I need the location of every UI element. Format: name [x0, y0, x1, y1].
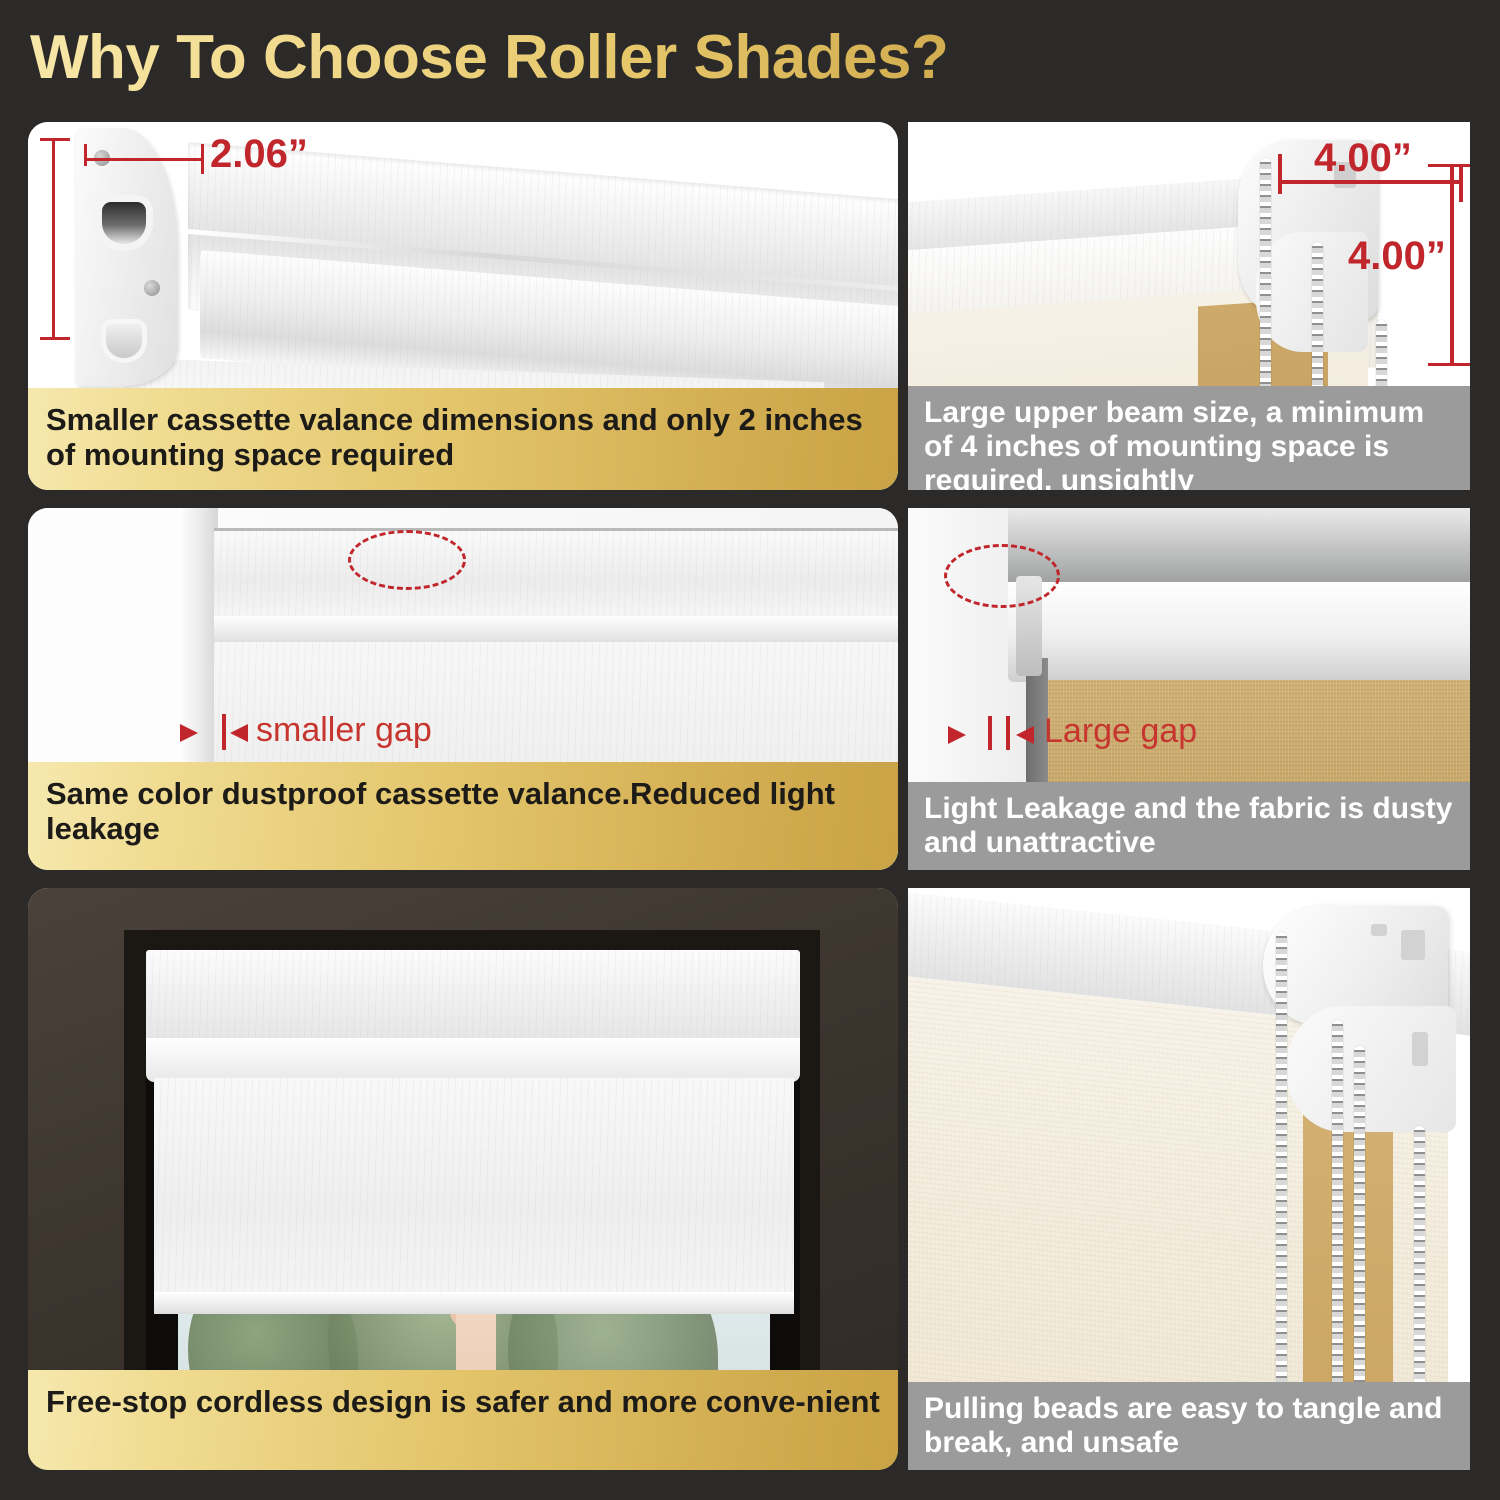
bead-chain	[1276, 932, 1287, 1442]
caption-pro-smaller-gap: Same color dustproof cassette valance.Re…	[28, 762, 898, 870]
width-dimension-label: 4.00”	[1314, 136, 1412, 181]
width-dimension-line	[86, 158, 204, 161]
gap-tick	[222, 714, 226, 750]
panel-con-pulling-beads: Pulling beads are easy to tangle and bre…	[908, 888, 1470, 1470]
upper-wall-shadow	[1008, 508, 1470, 586]
gap-tick	[1006, 716, 1010, 750]
caption-con-pulling-beads: Pulling beads are easy to tangle and bre…	[908, 1382, 1470, 1470]
width-dimension-tick	[84, 144, 87, 166]
height-dimension-label: 4.00”	[1348, 234, 1446, 279]
caption-text: Smaller cassette valance dimensions and …	[46, 402, 882, 472]
height-dimension-tick	[1428, 164, 1470, 167]
infographic-page: Why To Choose Roller Shades?	[0, 0, 1500, 1500]
endcap-slot-icon	[102, 202, 146, 244]
caption-con-light-leakage: Light Leakage and the fabric is dusty an…	[908, 782, 1470, 870]
caption-pro-cassette-dimensions: Smaller cassette valance dimensions and …	[28, 388, 898, 490]
roller-tube	[1008, 582, 1470, 682]
highlight-ellipse	[348, 530, 466, 590]
caption-text: Same color dustproof cassette valance.Re…	[46, 776, 882, 846]
caption-text: Free-stop cordless design is safer and m…	[46, 1384, 882, 1419]
panel-con-large-beam: 4.00” 4.00” Large upper beam size, a min…	[908, 122, 1470, 490]
hem-bar	[154, 1292, 794, 1314]
shade-fabric	[154, 1078, 794, 1298]
highlight-ellipse	[944, 544, 1060, 608]
width-dimension-tick	[1278, 154, 1282, 194]
gap-tick	[988, 716, 992, 750]
height-dimension-tick	[40, 138, 70, 141]
cassette-valance-closeup	[214, 530, 898, 616]
page-title: Why To Choose Roller Shades?	[30, 22, 1180, 94]
gap-arrow-right-icon	[180, 724, 198, 742]
gap-arrow-left-icon	[230, 724, 248, 742]
caption-con-large-beam: Large upper beam size, a minimum of 4 in…	[908, 386, 1470, 490]
height-dimension-line	[52, 140, 55, 340]
panel-pro-smaller-gap: smaller gap Same color dustproof cassett…	[28, 508, 898, 870]
panel-pro-cassette-dimensions: 2.06” 5.49” Smaller cassette valance dim…	[28, 122, 898, 490]
caption-text: Pulling beads are easy to tangle and bre…	[924, 1392, 1456, 1460]
cassette-valance	[146, 950, 800, 1042]
height-dimension-tick	[40, 337, 70, 340]
gap-arrow-right-icon	[948, 726, 966, 744]
bead-chain	[1332, 1020, 1343, 1440]
gap-arrow-left-icon	[1016, 726, 1034, 744]
bead-bracket-lower	[1286, 1006, 1456, 1132]
height-dimension-tick	[1428, 363, 1470, 366]
panel-con-light-leakage: Large gap Light Leakage and the fabric i…	[908, 508, 1470, 870]
valance-rail	[214, 616, 898, 642]
caption-text: Light Leakage and the fabric is dusty an…	[924, 792, 1456, 860]
valance-rail	[146, 1038, 800, 1082]
panel-pro-cordless: Free-stop cordless design is safer and m…	[28, 888, 898, 1470]
width-dimension-tick	[201, 144, 204, 174]
gap-label: Large gap	[1044, 712, 1197, 751]
endcap-screw-icon	[144, 280, 160, 296]
valance-end-cap	[76, 128, 178, 386]
gap-label: smaller gap	[256, 711, 432, 750]
caption-text: Large upper beam size, a minimum of 4 in…	[924, 396, 1456, 490]
caption-pro-cordless: Free-stop cordless design is safer and m…	[28, 1370, 898, 1470]
height-dimension-line	[1450, 166, 1454, 366]
endcap-knob-icon	[106, 324, 142, 358]
width-dimension-label: 2.06”	[210, 132, 308, 177]
width-dimension-tick	[1459, 166, 1463, 202]
